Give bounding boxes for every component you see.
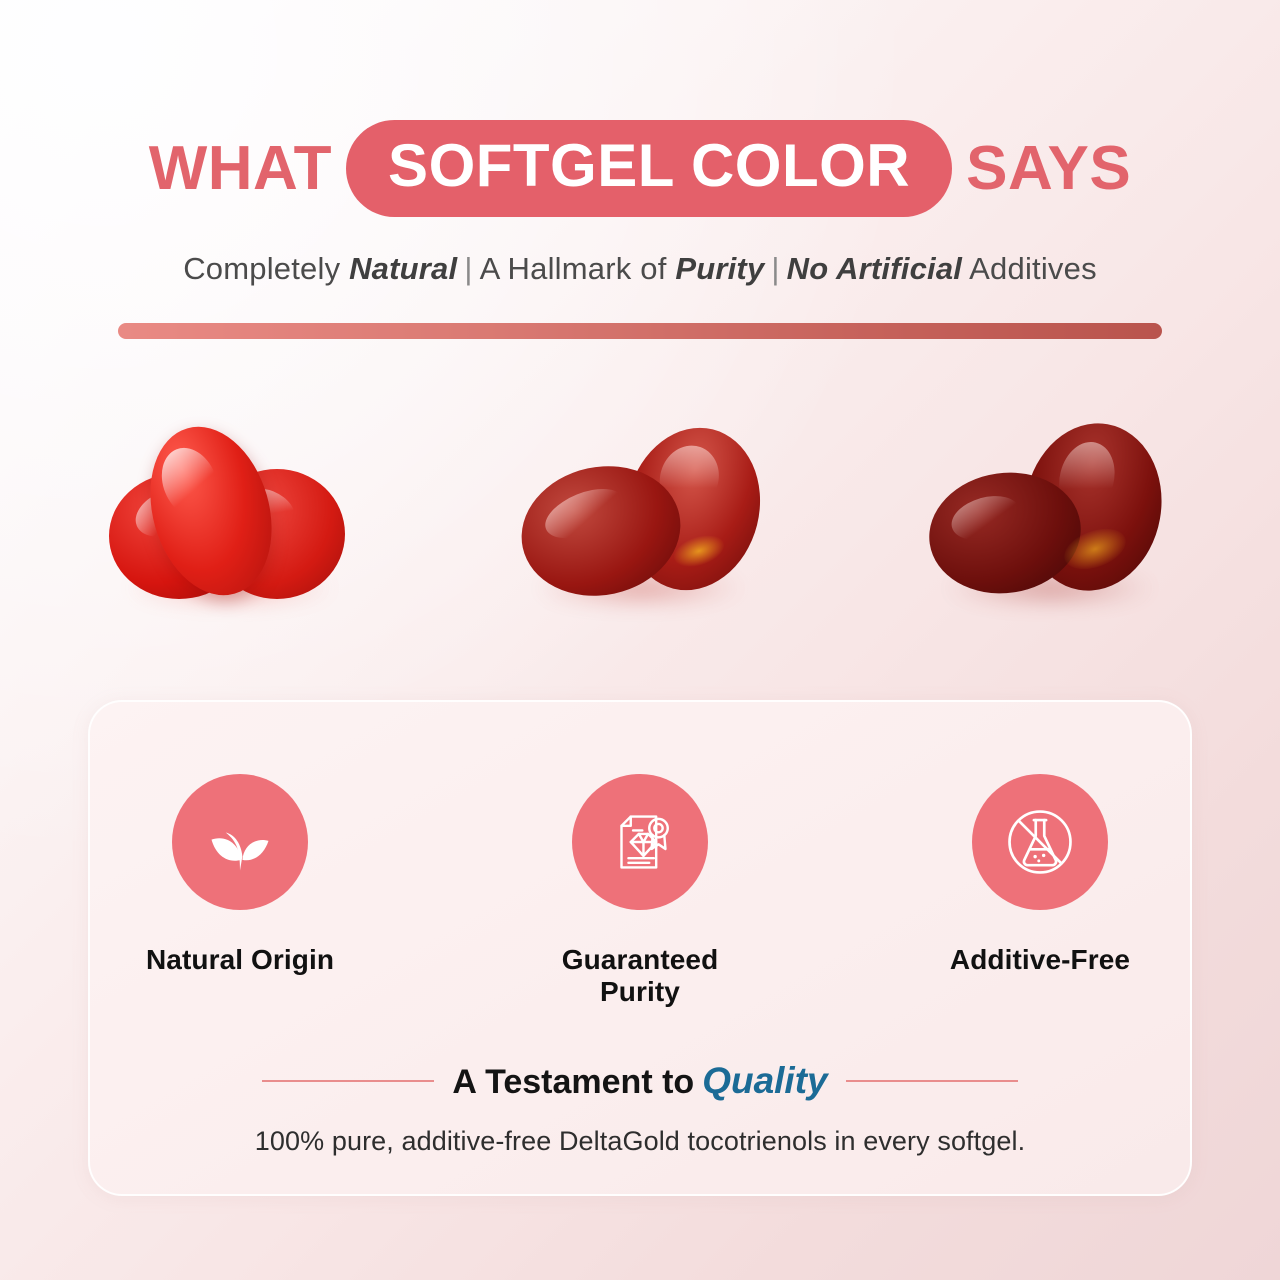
feature-list: Natural Origin Guaranteed Purity [90,702,1190,1008]
leaf-sprout-icon [172,774,308,910]
testament-text: A Testament to [452,1063,694,1101]
subtitle-part3-plain: Additives [962,251,1097,286]
testament-highlight: Quality [694,1060,827,1101]
testament-text-wrap: A Testament toQuality [452,1060,827,1102]
subtitle-separator-2: | [764,251,786,286]
headline-word-right: SAYS [966,133,1131,204]
ruby-red-softgels [515,411,765,611]
headline-word-left: WHAT [149,133,332,204]
subtitle: Completely Natural|A Hallmark of Purity|… [0,251,1280,287]
feature-natural-origin: Natural Origin [125,774,355,976]
header: WHAT SOFTGEL COLOR SAYS Completely Natur… [0,0,1280,339]
feature-label: Natural Origin [125,944,355,976]
subtitle-part1-plain: Completely [183,251,349,286]
dark-burgundy-softgels [925,411,1175,611]
softgel-color-badge: SOFTGEL COLOR [346,120,952,217]
feature-label: Guaranteed Purity [525,944,755,1008]
certificate-diamond-icon [572,774,708,910]
quality-card: Natural Origin Guaranteed Purity [88,700,1192,1196]
testament-heading: A Testament toQuality [90,1060,1190,1102]
subtitle-part2-plain: A Hallmark of [480,251,676,286]
subtitle-part2-emphasis: Purity [675,251,764,286]
page-title: WHAT SOFTGEL COLOR SAYS [0,120,1280,217]
subtitle-part3-emphasis: No Artificial [787,251,962,286]
feature-label: Additive-Free [925,944,1155,976]
feature-additive-free: Additive-Free [925,774,1155,976]
gradient-divider [118,323,1162,339]
tagline: 100% pure, additive-free DeltaGold tocot… [90,1126,1190,1157]
bright-red-softgels [105,411,355,611]
testament-rule-left [262,1080,434,1082]
feature-guaranteed-purity: Guaranteed Purity [525,774,755,1008]
no-chemicals-flask-icon [972,774,1108,910]
subtitle-separator-1: | [457,251,479,286]
softgel-showcase [0,401,1280,611]
testament-rule-right [846,1080,1018,1082]
subtitle-part1-emphasis: Natural [349,251,457,286]
